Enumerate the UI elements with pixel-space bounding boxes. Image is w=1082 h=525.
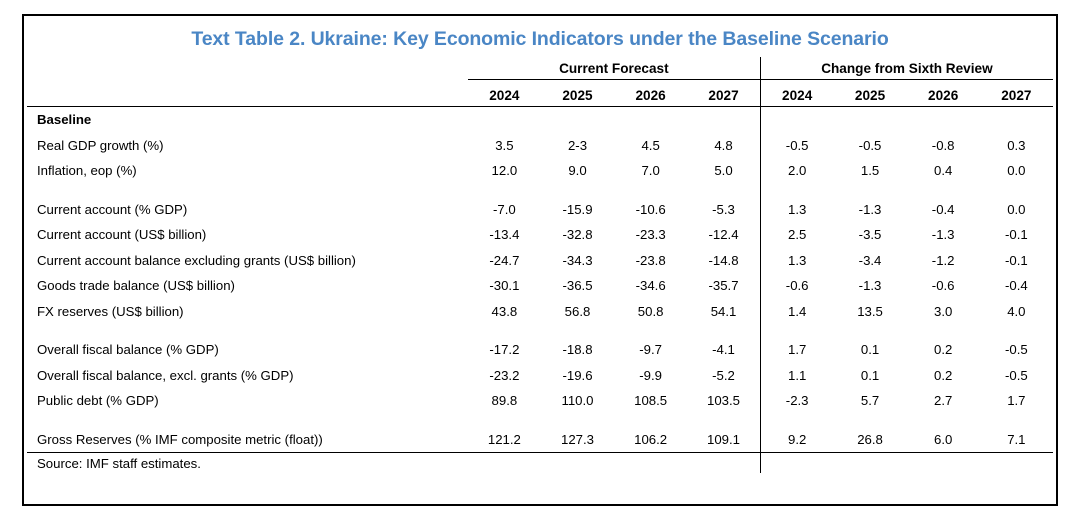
table-spacer-row: [27, 324, 1053, 337]
table-row: Current account (% GDP)-7.0-15.9-10.6-5.…: [27, 197, 1053, 223]
change-sixth-review-value: 1.5: [833, 158, 906, 184]
spacer-cell: [687, 184, 760, 197]
table-body: BaselineReal GDP growth (%)3.52-34.54.8-…: [27, 107, 1053, 453]
change-sixth-review-value: -1.2: [907, 248, 980, 274]
current-forecast-empty: [687, 107, 760, 133]
current-forecast-value: -23.2: [468, 363, 541, 389]
current-forecast-empty: [468, 107, 541, 133]
source-row: Source: IMF staff estimates.: [27, 453, 1053, 474]
change-sixth-review-value: -0.5: [980, 337, 1053, 363]
current-forecast-value: -9.7: [614, 337, 687, 363]
current-forecast-value: -36.5: [541, 273, 614, 299]
change-sixth-review-value: 1.3: [760, 197, 833, 223]
change-sixth-review-value: 1.4: [760, 299, 833, 325]
current-forecast-value: -14.8: [687, 248, 760, 274]
current-forecast-value: -19.6: [541, 363, 614, 389]
change-sixth-review-value: 6.0: [907, 427, 980, 453]
table-frame: Text Table 2. Ukraine: Key Economic Indi…: [22, 14, 1058, 506]
spacer-cell: [614, 184, 687, 197]
current-forecast-value: -12.4: [687, 222, 760, 248]
table-row: FX reserves (US$ billion)43.856.850.854.…: [27, 299, 1053, 325]
current-forecast-value: -13.4: [468, 222, 541, 248]
row-label: Goods trade balance (US$ billion): [27, 273, 468, 299]
current-forecast-value: 56.8: [541, 299, 614, 325]
change-sixth-review-value: 26.8: [833, 427, 906, 453]
row-label: Inflation, eop (%): [27, 158, 468, 184]
current-forecast-value: -23.3: [614, 222, 687, 248]
change-sixth-review-value: -1.3: [833, 197, 906, 223]
row-label: Current account (% GDP): [27, 197, 468, 223]
spacer-cell: [833, 324, 906, 337]
table-row: Inflation, eop (%)12.09.07.05.02.01.50.4…: [27, 158, 1053, 184]
change-sixth-review-value: -0.1: [980, 248, 1053, 274]
spacer-cell: [468, 324, 541, 337]
spacer-cell: [541, 184, 614, 197]
current-forecast-value: -34.6: [614, 273, 687, 299]
change-sixth-review-value: 7.1: [980, 427, 1053, 453]
group-header-row: Current Forecast Change from Sixth Revie…: [27, 57, 1053, 80]
change-sixth-review-empty: [833, 107, 906, 133]
change-sixth-review-value: 0.2: [907, 363, 980, 389]
year-header-ch-2027: 2027: [980, 80, 1053, 107]
current-forecast-value: 127.3: [541, 427, 614, 453]
change-sixth-review-value: 9.2: [760, 427, 833, 453]
spacer-cell: [27, 324, 468, 337]
spacer-cell: [980, 414, 1053, 427]
spacer-cell: [468, 414, 541, 427]
table-row: Public debt (% GDP)89.8110.0108.5103.5-2…: [27, 388, 1053, 414]
year-header-ch-2025: 2025: [833, 80, 906, 107]
change-sixth-review-value: 2.7: [907, 388, 980, 414]
current-forecast-value: 12.0: [468, 158, 541, 184]
current-forecast-value: 9.0: [541, 158, 614, 184]
change-sixth-review-value: -0.4: [980, 273, 1053, 299]
current-forecast-value: -5.2: [687, 363, 760, 389]
year-header-row: 2024 2025 2026 2027 2024 2025 2026 2027: [27, 80, 1053, 107]
current-forecast-value: -10.6: [614, 197, 687, 223]
current-forecast-value: 3.5: [468, 133, 541, 159]
row-label: Current account (US$ billion): [27, 222, 468, 248]
change-sixth-review-value: -0.1: [980, 222, 1053, 248]
current-forecast-value: -24.7: [468, 248, 541, 274]
change-sixth-review-value: -2.3: [760, 388, 833, 414]
change-sixth-review-value: -0.5: [833, 133, 906, 159]
spacer-cell: [687, 324, 760, 337]
change-sixth-review-value: -0.6: [760, 273, 833, 299]
change-sixth-review-value: 0.3: [980, 133, 1053, 159]
current-forecast-value: 7.0: [614, 158, 687, 184]
source-spacer-3: [980, 453, 1053, 474]
change-sixth-review-value: -1.3: [833, 273, 906, 299]
table-row: Real GDP growth (%)3.52-34.54.8-0.5-0.5-…: [27, 133, 1053, 159]
year-header-ch-2026: 2026: [907, 80, 980, 107]
change-sixth-review-value: 0.4: [907, 158, 980, 184]
change-sixth-review-value: 13.5: [833, 299, 906, 325]
current-forecast-value: -15.9: [541, 197, 614, 223]
spacer-cell: [541, 324, 614, 337]
current-forecast-value: 109.1: [687, 427, 760, 453]
table-row: Current account balance excluding grants…: [27, 248, 1053, 274]
current-forecast-value: -35.7: [687, 273, 760, 299]
current-forecast-value: 108.5: [614, 388, 687, 414]
change-sixth-review-value: 1.1: [760, 363, 833, 389]
economic-indicators-table: Current Forecast Change from Sixth Revie…: [27, 57, 1053, 473]
spacer-cell: [687, 414, 760, 427]
current-forecast-empty: [614, 107, 687, 133]
spacer-cell: [27, 414, 468, 427]
row-label: Overall fiscal balance, excl. grants (% …: [27, 363, 468, 389]
spacer-cell: [468, 184, 541, 197]
year-header-spacer: [27, 80, 468, 107]
change-sixth-review-value: 0.1: [833, 363, 906, 389]
page-title: Text Table 2. Ukraine: Key Economic Indi…: [24, 28, 1056, 51]
spacer-cell: [760, 184, 833, 197]
year-header-ch-2024: 2024: [760, 80, 833, 107]
spacer-cell: [907, 414, 980, 427]
table-row: Overall fiscal balance (% GDP)-17.2-18.8…: [27, 337, 1053, 363]
change-sixth-review-value: 1.3: [760, 248, 833, 274]
change-sixth-review-value: 0.0: [980, 158, 1053, 184]
table-spacer-row: [27, 184, 1053, 197]
change-sixth-review-empty: [760, 107, 833, 133]
change-sixth-review-value: 0.2: [907, 337, 980, 363]
row-label: Current account balance excluding grants…: [27, 248, 468, 274]
table-row: Overall fiscal balance, excl. grants (% …: [27, 363, 1053, 389]
spacer-cell: [980, 324, 1053, 337]
current-forecast-value: -34.3: [541, 248, 614, 274]
current-forecast-value: 103.5: [687, 388, 760, 414]
current-forecast-value: 2-3: [541, 133, 614, 159]
row-label: Public debt (% GDP): [27, 388, 468, 414]
source-spacer-2: [907, 453, 980, 474]
spacer-cell: [541, 414, 614, 427]
current-forecast-value: -7.0: [468, 197, 541, 223]
spacer-cell: [833, 414, 906, 427]
row-label: Gross Reserves (% IMF composite metric (…: [27, 427, 468, 453]
current-forecast-value: 4.8: [687, 133, 760, 159]
year-header-cf-2024: 2024: [468, 80, 541, 107]
change-sixth-review-value: -0.4: [907, 197, 980, 223]
change-sixth-review-value: -1.3: [907, 222, 980, 248]
change-sixth-review-value: -3.5: [833, 222, 906, 248]
year-header-cf-2026: 2026: [614, 80, 687, 107]
current-forecast-value: -9.9: [614, 363, 687, 389]
change-sixth-review-value: -0.5: [980, 363, 1053, 389]
group-header-current-forecast: Current Forecast: [468, 57, 761, 80]
current-forecast-value: -30.1: [468, 273, 541, 299]
current-forecast-value: 121.2: [468, 427, 541, 453]
spacer-cell: [980, 184, 1053, 197]
change-sixth-review-empty: [980, 107, 1053, 133]
group-header-spacer: [27, 57, 468, 80]
row-label: Real GDP growth (%): [27, 133, 468, 159]
change-sixth-review-value: 1.7: [760, 337, 833, 363]
table-row: Gross Reserves (% IMF composite metric (…: [27, 427, 1053, 453]
change-sixth-review-value: 1.7: [980, 388, 1053, 414]
table-foot: Source: IMF staff estimates.: [27, 453, 1053, 474]
source-spacer-divider: [760, 453, 833, 474]
change-sixth-review-value: 0.0: [980, 197, 1053, 223]
current-forecast-value: 4.5: [614, 133, 687, 159]
spacer-cell: [27, 184, 468, 197]
year-header-cf-2025: 2025: [541, 80, 614, 107]
row-label: Overall fiscal balance (% GDP): [27, 337, 468, 363]
current-forecast-value: -4.1: [687, 337, 760, 363]
table-row: Baseline: [27, 107, 1053, 133]
change-sixth-review-value: -3.4: [833, 248, 906, 274]
current-forecast-value: 43.8: [468, 299, 541, 325]
current-forecast-value: 54.1: [687, 299, 760, 325]
current-forecast-value: -18.8: [541, 337, 614, 363]
change-sixth-review-value: 3.0: [907, 299, 980, 325]
change-sixth-review-value: 4.0: [980, 299, 1053, 325]
source-spacer-1: [833, 453, 906, 474]
change-sixth-review-value: 2.0: [760, 158, 833, 184]
spacer-cell: [907, 324, 980, 337]
spacer-cell: [614, 324, 687, 337]
change-sixth-review-value: 0.1: [833, 337, 906, 363]
change-sixth-review-empty: [907, 107, 980, 133]
table-spacer-row: [27, 414, 1053, 427]
current-forecast-value: -5.3: [687, 197, 760, 223]
source-note: Source: IMF staff estimates.: [27, 453, 760, 474]
current-forecast-value: -17.2: [468, 337, 541, 363]
year-header-cf-2027: 2027: [687, 80, 760, 107]
current-forecast-empty: [541, 107, 614, 133]
change-sixth-review-value: -0.8: [907, 133, 980, 159]
current-forecast-value: 5.0: [687, 158, 760, 184]
spacer-cell: [760, 414, 833, 427]
table-row: Goods trade balance (US$ billion)-30.1-3…: [27, 273, 1053, 299]
table-head: Current Forecast Change from Sixth Revie…: [27, 57, 1053, 107]
change-sixth-review-value: -0.5: [760, 133, 833, 159]
section-label: Baseline: [27, 107, 468, 133]
table-row: Current account (US$ billion)-13.4-32.8-…: [27, 222, 1053, 248]
change-sixth-review-value: 2.5: [760, 222, 833, 248]
spacer-cell: [614, 414, 687, 427]
current-forecast-value: 89.8: [468, 388, 541, 414]
row-label: FX reserves (US$ billion): [27, 299, 468, 325]
spacer-cell: [760, 324, 833, 337]
group-header-change-from-sixth-review: Change from Sixth Review: [760, 57, 1053, 80]
spacer-cell: [907, 184, 980, 197]
current-forecast-value: 110.0: [541, 388, 614, 414]
spacer-cell: [833, 184, 906, 197]
current-forecast-value: 50.8: [614, 299, 687, 325]
current-forecast-value: -32.8: [541, 222, 614, 248]
change-sixth-review-value: -0.6: [907, 273, 980, 299]
current-forecast-value: 106.2: [614, 427, 687, 453]
change-sixth-review-value: 5.7: [833, 388, 906, 414]
current-forecast-value: -23.8: [614, 248, 687, 274]
